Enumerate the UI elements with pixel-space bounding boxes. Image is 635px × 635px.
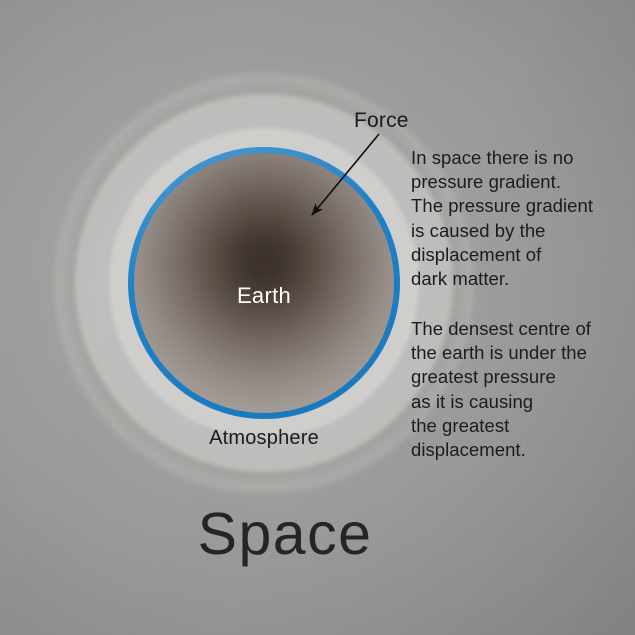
paragraph-two: The densest centre of the earth is under… <box>411 317 611 462</box>
paragraph-two-line: greatest pressure <box>411 365 611 389</box>
space-pressure-diagram: Earth Atmosphere Force In space there is… <box>0 0 635 635</box>
paragraph-two-line: as it is causing <box>411 390 611 414</box>
paragraph-two-line: the greatest <box>411 414 611 438</box>
paragraph-one-line: displacement of <box>411 243 611 267</box>
paragraph-one-line: In space there is no <box>411 146 611 170</box>
diagram-title: Space <box>0 505 570 564</box>
paragraph-one-line: dark matter. <box>411 267 611 291</box>
paragraph-one: In space there is no pressure gradient. … <box>411 146 611 291</box>
paragraph-two-line: displacement. <box>411 438 611 462</box>
paragraph-one-line: is caused by the <box>411 219 611 243</box>
force-label: Force <box>354 110 409 131</box>
paragraph-two-line: The densest centre of <box>411 317 611 341</box>
paragraph-one-line: The pressure gradient <box>411 194 611 218</box>
paragraph-two-line: the earth is under the <box>411 341 611 365</box>
paragraph-one-line: pressure gradient. <box>411 170 611 194</box>
